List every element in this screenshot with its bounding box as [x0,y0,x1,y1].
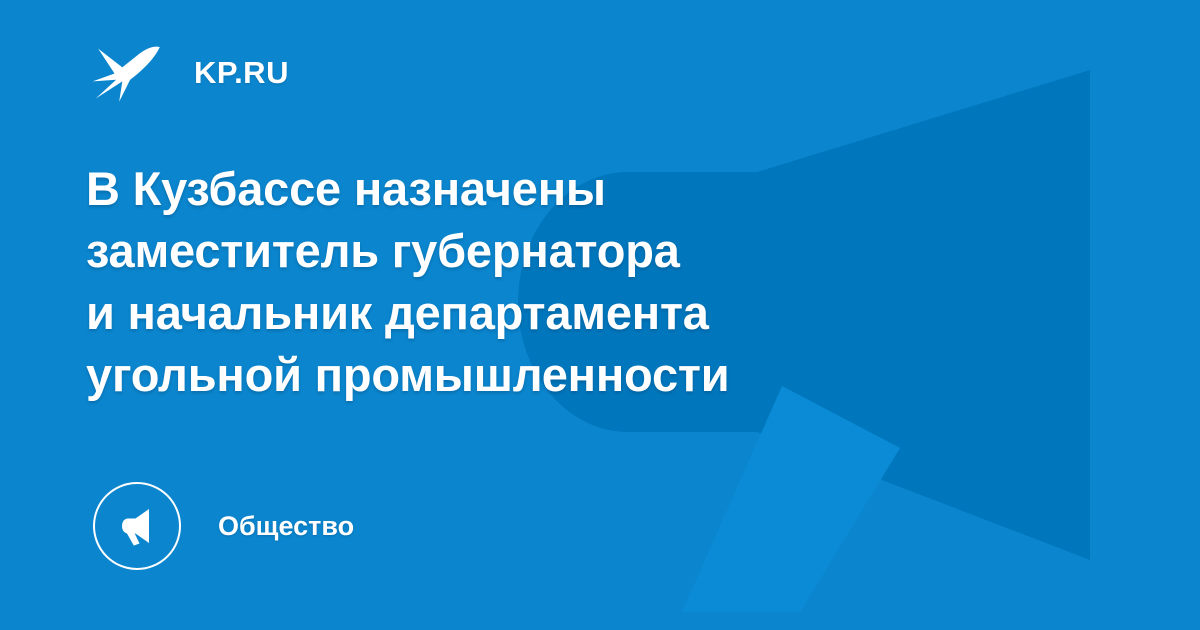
brand-logo[interactable]: KP.RU [88,32,289,112]
headline-line-4: угольной промышленности [86,344,1026,406]
headline: В Кузбассе назначены заместитель губерна… [86,158,1026,406]
megaphone-icon [113,502,161,550]
rubric-label: Общество [218,513,354,540]
headline-line-2: заместитель губернатора [86,220,1026,282]
headline-line-1: В Кузбассе назначены [86,158,1026,220]
brand-name-label: KP.RU [194,57,289,88]
rubric-badge[interactable]: Общество [93,482,354,570]
swallow-bird-icon [88,33,166,111]
rubric-icon-circle [93,482,181,570]
headline-line-3: и начальник департамента [86,282,1026,344]
social-share-card: KP.RU В Кузбассе назначены заместитель г… [0,0,1200,630]
